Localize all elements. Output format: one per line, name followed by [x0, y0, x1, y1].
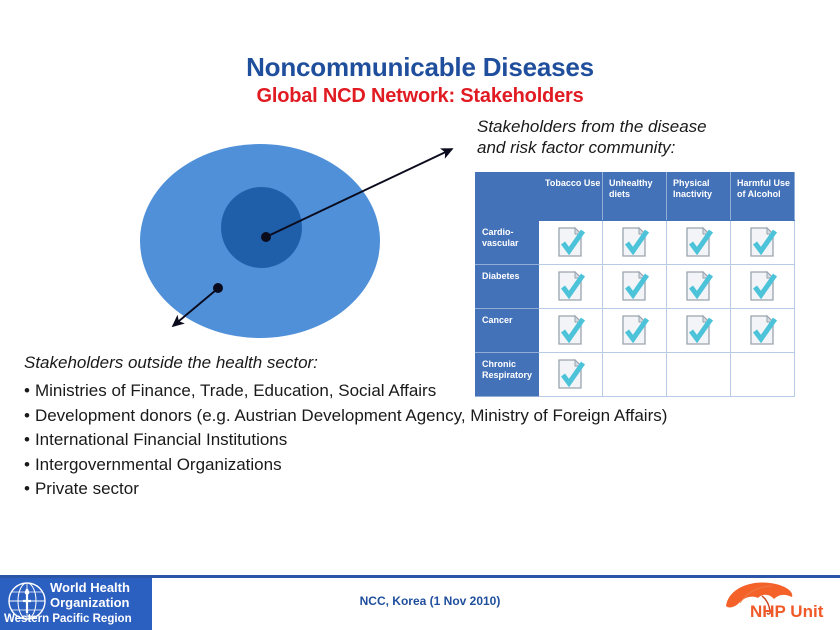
table-row: Cardio-vascular	[476, 221, 795, 265]
matrix-corner-cell	[476, 173, 539, 221]
matrix-cell-checked	[603, 221, 667, 265]
document-check-icon	[620, 226, 650, 258]
inner-circle-shape	[221, 187, 302, 268]
matrix-cell-checked	[667, 309, 731, 353]
document-check-icon	[748, 314, 778, 346]
document-check-icon	[748, 226, 778, 258]
document-check-icon	[684, 226, 714, 258]
who-region-label: Western Pacific Region	[4, 613, 132, 625]
list-item-label: Development donors (e.g. Austrian Develo…	[35, 406, 667, 425]
bullet-glyph: •	[24, 381, 30, 400]
document-check-icon	[620, 314, 650, 346]
document-check-icon	[556, 270, 586, 302]
matrix-body: Cardio-vascularDiabetesCancerChronic Res…	[476, 221, 795, 397]
stakeholder-venn-diagram	[120, 128, 420, 358]
nhp-unit-logo: NHP Unit	[722, 580, 840, 628]
nhp-unit-label: NHP Unit	[750, 602, 823, 622]
matrix-cell-checked	[539, 265, 603, 309]
disease-community-caption: Stakeholders from the disease and risk f…	[477, 116, 817, 158]
matrix-column-header: Harmful Use of Alcohol	[731, 173, 795, 221]
list-item-label: Intergovernmental Organizations	[35, 455, 282, 474]
document-check-icon	[684, 270, 714, 302]
list-item: •Ministries of Finance, Trade, Education…	[24, 379, 824, 404]
matrix-cell-checked	[539, 221, 603, 265]
list-item-label: International Financial Institutions	[35, 430, 287, 449]
document-check-icon	[684, 314, 714, 346]
who-logo-block: World Health Organization Western Pacifi…	[0, 578, 152, 630]
list-item: •Development donors (e.g. Austrian Devel…	[24, 404, 824, 429]
matrix-cell-checked	[539, 309, 603, 353]
matrix-cell-checked	[667, 265, 731, 309]
disease-caption-line2: and risk factor community:	[477, 137, 817, 158]
disease-caption-line1: Stakeholders from the disease	[477, 116, 817, 137]
who-wordmark-line2: Organization	[50, 595, 130, 610]
matrix-row-header: Diabetes	[476, 265, 539, 309]
bullet-glyph: •	[24, 430, 30, 449]
matrix-column-header: Unhealthy diets	[603, 173, 667, 221]
who-wordmark-line1: World Health	[50, 580, 130, 595]
list-item: •International Financial Institutions	[24, 428, 824, 453]
matrix-cell-checked	[731, 265, 795, 309]
document-check-icon	[620, 270, 650, 302]
document-check-icon	[556, 314, 586, 346]
matrix-row-header: Cardio-vascular	[476, 221, 539, 265]
list-item-label: Ministries of Finance, Trade, Education,…	[35, 381, 436, 400]
page-title: Noncommunicable Diseases	[0, 52, 840, 83]
matrix-cell-checked	[603, 309, 667, 353]
bullet-glyph: •	[24, 479, 30, 498]
matrix-cell-checked	[667, 221, 731, 265]
matrix-cell-checked	[731, 221, 795, 265]
list-item-label: Private sector	[35, 479, 139, 498]
footer-event-label: NCC, Korea (1 Nov 2010)	[250, 594, 610, 608]
who-wordmark: World Health Organization	[50, 580, 130, 610]
list-item: •Intergovernmental Organizations	[24, 453, 824, 478]
table-row: Diabetes	[476, 265, 795, 309]
matrix-row-header: Cancer	[476, 309, 539, 353]
document-check-icon	[748, 270, 778, 302]
matrix-column-header: Physical Inactivity	[667, 173, 731, 221]
bullet-glyph: •	[24, 406, 30, 425]
outside-sector-heading: Stakeholders outside the health sector:	[24, 353, 318, 373]
matrix-cell-checked	[603, 265, 667, 309]
page-subtitle: Global NCD Network: Stakeholders	[0, 85, 840, 108]
matrix-column-header: Tobacco Use	[539, 173, 603, 221]
bullet-glyph: •	[24, 455, 30, 474]
list-item: •Private sector	[24, 477, 824, 502]
disease-risk-factor-matrix: Tobacco Use Unhealthy diets Physical Ina…	[475, 172, 795, 397]
outside-sector-list: •Ministries of Finance, Trade, Education…	[24, 379, 824, 502]
table-row: Cancer	[476, 309, 795, 353]
matrix-header-row: Tobacco Use Unhealthy diets Physical Ina…	[476, 173, 795, 221]
matrix-cell-checked	[731, 309, 795, 353]
document-check-icon	[556, 226, 586, 258]
